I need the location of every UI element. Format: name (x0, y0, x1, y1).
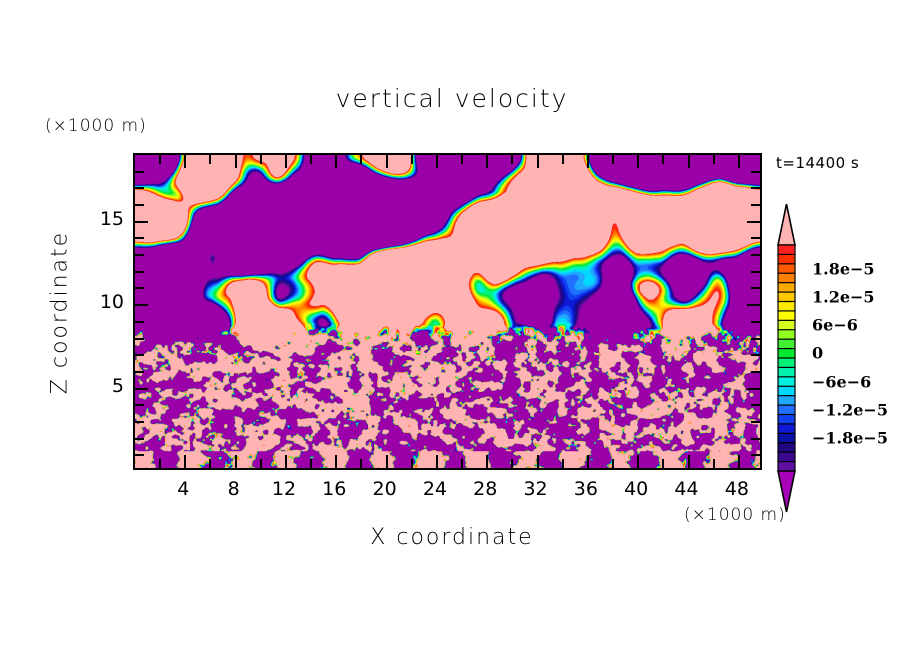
colorbar-tick-label: 1.2e−5 (812, 287, 875, 306)
colorbar-band (778, 443, 795, 453)
colorbar-band (778, 415, 795, 425)
x-tick-label: 48 (725, 478, 749, 500)
x-tick-mark (713, 459, 715, 468)
x-tick-label: 36 (574, 478, 598, 500)
x-tick-label: 28 (473, 478, 497, 500)
x-tick-mark (235, 155, 237, 168)
colorbar-band (778, 273, 795, 283)
x-tick-mark (411, 459, 413, 468)
y-tick-mark (751, 204, 760, 206)
x-tick-mark (159, 459, 161, 468)
colorbar-band (778, 283, 795, 293)
x-tick-mark (436, 455, 438, 468)
timestamp-annotation: t=14400 s (776, 154, 859, 172)
x-tick-mark (260, 155, 262, 164)
x-tick-label: 44 (674, 478, 698, 500)
x-tick-label: 40 (624, 478, 648, 500)
x-tick-mark (688, 155, 690, 168)
y-tick-mark (751, 354, 760, 356)
x-tick-mark (738, 155, 740, 168)
x-tick-mark (386, 155, 388, 168)
y-tick-mark (135, 404, 144, 406)
y-tick-mark (751, 371, 760, 373)
colorbar-under-arrow (778, 471, 795, 512)
y-tick-mark (135, 254, 144, 256)
colorbar-band (778, 452, 795, 462)
y-tick-mark (135, 454, 144, 456)
x-tick-mark (335, 455, 337, 468)
x-tick-mark (562, 459, 564, 468)
x-tick-mark (713, 155, 715, 164)
y-tick-mark (747, 388, 760, 390)
x-tick-mark (511, 459, 513, 468)
y-tick-mark (135, 371, 144, 373)
x-tick-label: 20 (373, 478, 397, 500)
page-title: vertical velocity (0, 84, 904, 113)
y-tick-label-text: 10 (100, 291, 124, 313)
y-tick-mark (751, 321, 760, 323)
colorbar-tick-label: −6e−6 (812, 372, 871, 391)
y-tick-mark (751, 287, 760, 289)
x-tick-mark (738, 455, 740, 468)
figure-root: vertical velocity (×1000 m) t=14400 s 48… (0, 0, 904, 654)
x-tick-mark (335, 155, 337, 168)
y-tick-mark (751, 404, 760, 406)
x-tick-label: 8 (228, 478, 240, 500)
colorbar-tick-label: −1.8e−5 (812, 429, 888, 448)
colorbar-band (778, 462, 795, 472)
colorbar-band (778, 386, 795, 396)
x-tick-mark (662, 155, 664, 164)
y-tick-mark (751, 338, 760, 340)
colorbar-band (778, 405, 795, 415)
x-tick-mark (662, 459, 664, 468)
y-tick-mark (135, 338, 144, 340)
y-tick-mark (135, 237, 144, 239)
x-tick-mark (285, 155, 287, 168)
y-tick-mark (751, 421, 760, 423)
x-tick-mark (184, 155, 186, 168)
colorbar-band (778, 377, 795, 387)
x-tick-mark (637, 455, 639, 468)
colorbar-band (778, 358, 795, 368)
x-tick-mark (235, 455, 237, 468)
y-tick-mark (751, 271, 760, 273)
x-tick-mark (562, 155, 564, 164)
colorbar-tick-label: 0 (812, 344, 823, 363)
colorbar[interactable] (770, 203, 810, 513)
y-tick-mark (135, 388, 148, 390)
x-tick-mark (310, 155, 312, 164)
colorbar-band (778, 320, 795, 330)
x-tick-mark (511, 155, 513, 164)
colorbar-swatches (770, 203, 810, 513)
colorbar-band (778, 302, 795, 312)
colorbar-band (778, 367, 795, 377)
x-tick-mark (612, 155, 614, 164)
colorbar-band (778, 292, 795, 302)
x-tick-mark (587, 155, 589, 168)
x-tick-mark (360, 459, 362, 468)
y-tick-mark (751, 454, 760, 456)
x-tick-mark (159, 155, 161, 164)
colorbar-tick-label: 1.8e−5 (812, 259, 875, 278)
colorbar-band (778, 264, 795, 274)
x-axis-title: X coordinate (0, 525, 904, 550)
x-tick-label: 4 (177, 478, 189, 500)
colorbar-tick-label: −1.2e−5 (812, 400, 888, 419)
x-tick-label: 12 (272, 478, 296, 500)
colorbar-band (778, 433, 795, 443)
x-tick-label: 24 (423, 478, 447, 500)
colorbar-tick-label: 6e−6 (812, 316, 858, 335)
x-tick-mark (637, 155, 639, 168)
x-tick-mark (688, 455, 690, 468)
y-tick-mark (135, 271, 144, 273)
x-tick-mark (260, 459, 262, 468)
plot-area[interactable] (133, 153, 762, 470)
y-tick-mark (135, 438, 144, 440)
x-tick-mark (461, 155, 463, 164)
y-tick-mark (747, 221, 760, 223)
x-tick-mark (310, 459, 312, 468)
colorbar-band (778, 339, 795, 349)
y-tick-mark (751, 254, 760, 256)
y-tick-mark (751, 171, 760, 173)
x-tick-mark (436, 155, 438, 168)
y-tick-mark (135, 287, 144, 289)
y-tick-mark (135, 354, 144, 356)
y-tick-mark (135, 321, 144, 323)
x-tick-mark (209, 155, 211, 164)
colorbar-band (778, 424, 795, 434)
x-tick-mark (537, 455, 539, 468)
velocity-field-heatmap (135, 155, 760, 468)
x-tick-mark (461, 459, 463, 468)
x-tick-mark (411, 155, 413, 164)
colorbar-band (778, 396, 795, 406)
colorbar-band (778, 330, 795, 340)
x-tick-mark (386, 455, 388, 468)
y-axis-units-label: (×1000 m) (45, 116, 147, 136)
y-tick-mark (751, 438, 760, 440)
colorbar-band (778, 254, 795, 264)
x-tick-mark (285, 455, 287, 468)
x-tick-mark (360, 155, 362, 164)
x-tick-mark (537, 155, 539, 168)
y-tick-mark (751, 187, 760, 189)
y-tick-mark (135, 187, 144, 189)
y-tick-mark (135, 171, 144, 173)
y-tick-mark (751, 237, 760, 239)
x-tick-mark (209, 459, 211, 468)
x-tick-mark (184, 455, 186, 468)
y-axis-title: Z coordinate (48, 213, 73, 413)
y-tick-mark (135, 421, 144, 423)
x-tick-label: 32 (523, 478, 547, 500)
colorbar-band (778, 245, 795, 255)
y-tick-mark (135, 221, 148, 223)
colorbar-band (778, 349, 795, 359)
colorbar-band (778, 311, 795, 321)
x-tick-mark (612, 459, 614, 468)
y-tick-mark (135, 204, 144, 206)
x-tick-mark (486, 455, 488, 468)
x-tick-mark (587, 455, 589, 468)
y-tick-label-text: 5 (112, 375, 124, 397)
colorbar-over-arrow (778, 204, 795, 245)
y-tick-label-text: 15 (100, 208, 124, 230)
x-tick-mark (486, 155, 488, 168)
y-tick-mark (135, 304, 148, 306)
x-tick-label: 16 (322, 478, 346, 500)
y-tick-mark (747, 304, 760, 306)
